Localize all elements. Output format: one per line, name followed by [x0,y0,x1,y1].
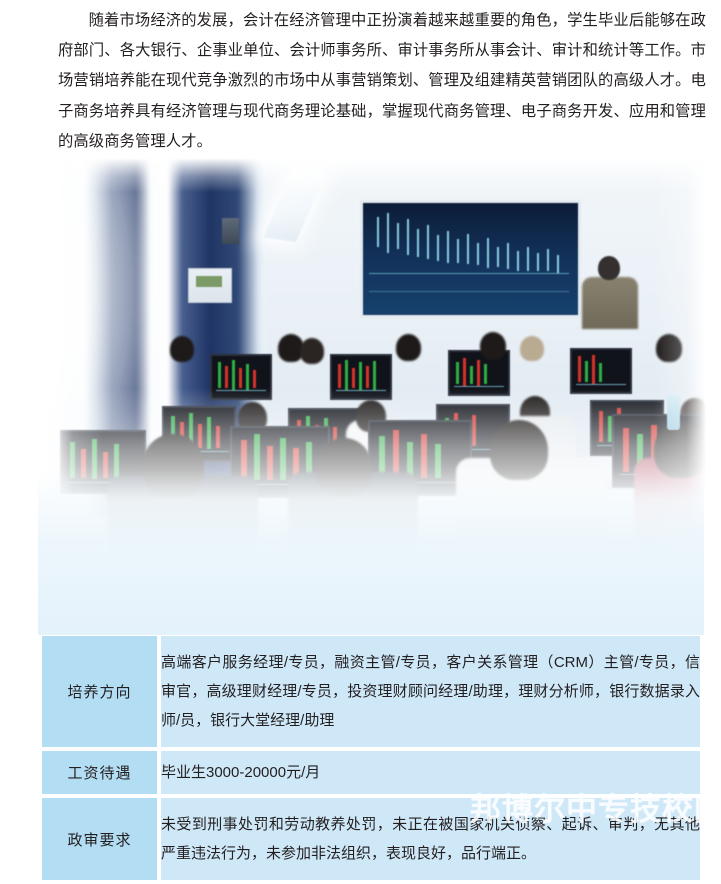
student-head [396,334,421,361]
student-head [300,338,324,364]
student-head [170,336,194,362]
row-value-political-review: 未受到刑事处罚和劳动教养处罚，未正在被国家机关侦察、起诉、审判，无其他严重违法行… [161,798,700,880]
monitor [210,354,272,400]
table-row: 工资待遇 毕业生3000-20000元/月 [42,751,700,794]
table-row: 培养方向 高端客户服务经理/专员，融资主管/专员，客户关系管理（CRM）主管/专… [42,636,700,747]
teacher-head [598,256,620,280]
student-head [316,438,372,496]
monitor [570,348,632,394]
table-row: 政审要求 未受到刑事处罚和劳动教养处罚，未正在被国家机关侦察、起诉、审判，无其他… [42,798,700,880]
projector-screen [360,200,581,318]
row-label-political-review: 政审要求 [42,798,157,880]
wall-speaker-icon [222,218,239,244]
student-head [142,434,204,498]
photo-canvas [50,158,706,558]
student-head [480,332,506,360]
row-value-training-direction: 高端客户服务经理/专员，融资主管/专员，客户关系管理（CRM）主管/专员，信审官… [161,636,700,747]
intro-text-block: 随着市场经济的发展，会计在经济管理中正扮演着越来越重要的角色，学生毕业后能够在政… [58,6,706,157]
water-bottle-icon [667,394,680,430]
student-head [654,422,706,478]
student-head [656,334,682,362]
row-label-training-direction: 培养方向 [42,636,157,747]
monitor [330,354,392,400]
classroom-photo [50,158,706,558]
program-info-table: 培养方向 高端客户服务经理/专员，融资主管/专员，客户关系管理（CRM）主管/专… [38,632,704,884]
intro-paragraph: 随着市场经济的发展，会计在经济管理中正扮演着越来越重要的角色，学生毕业后能够在政… [58,6,706,157]
student-head [490,420,548,480]
student-head [520,336,544,361]
row-value-salary: 毕业生3000-20000元/月 [161,751,700,794]
teacher-figure [582,277,638,329]
row-label-salary: 工资待遇 [42,751,157,794]
wall-control-box-icon [188,268,232,303]
